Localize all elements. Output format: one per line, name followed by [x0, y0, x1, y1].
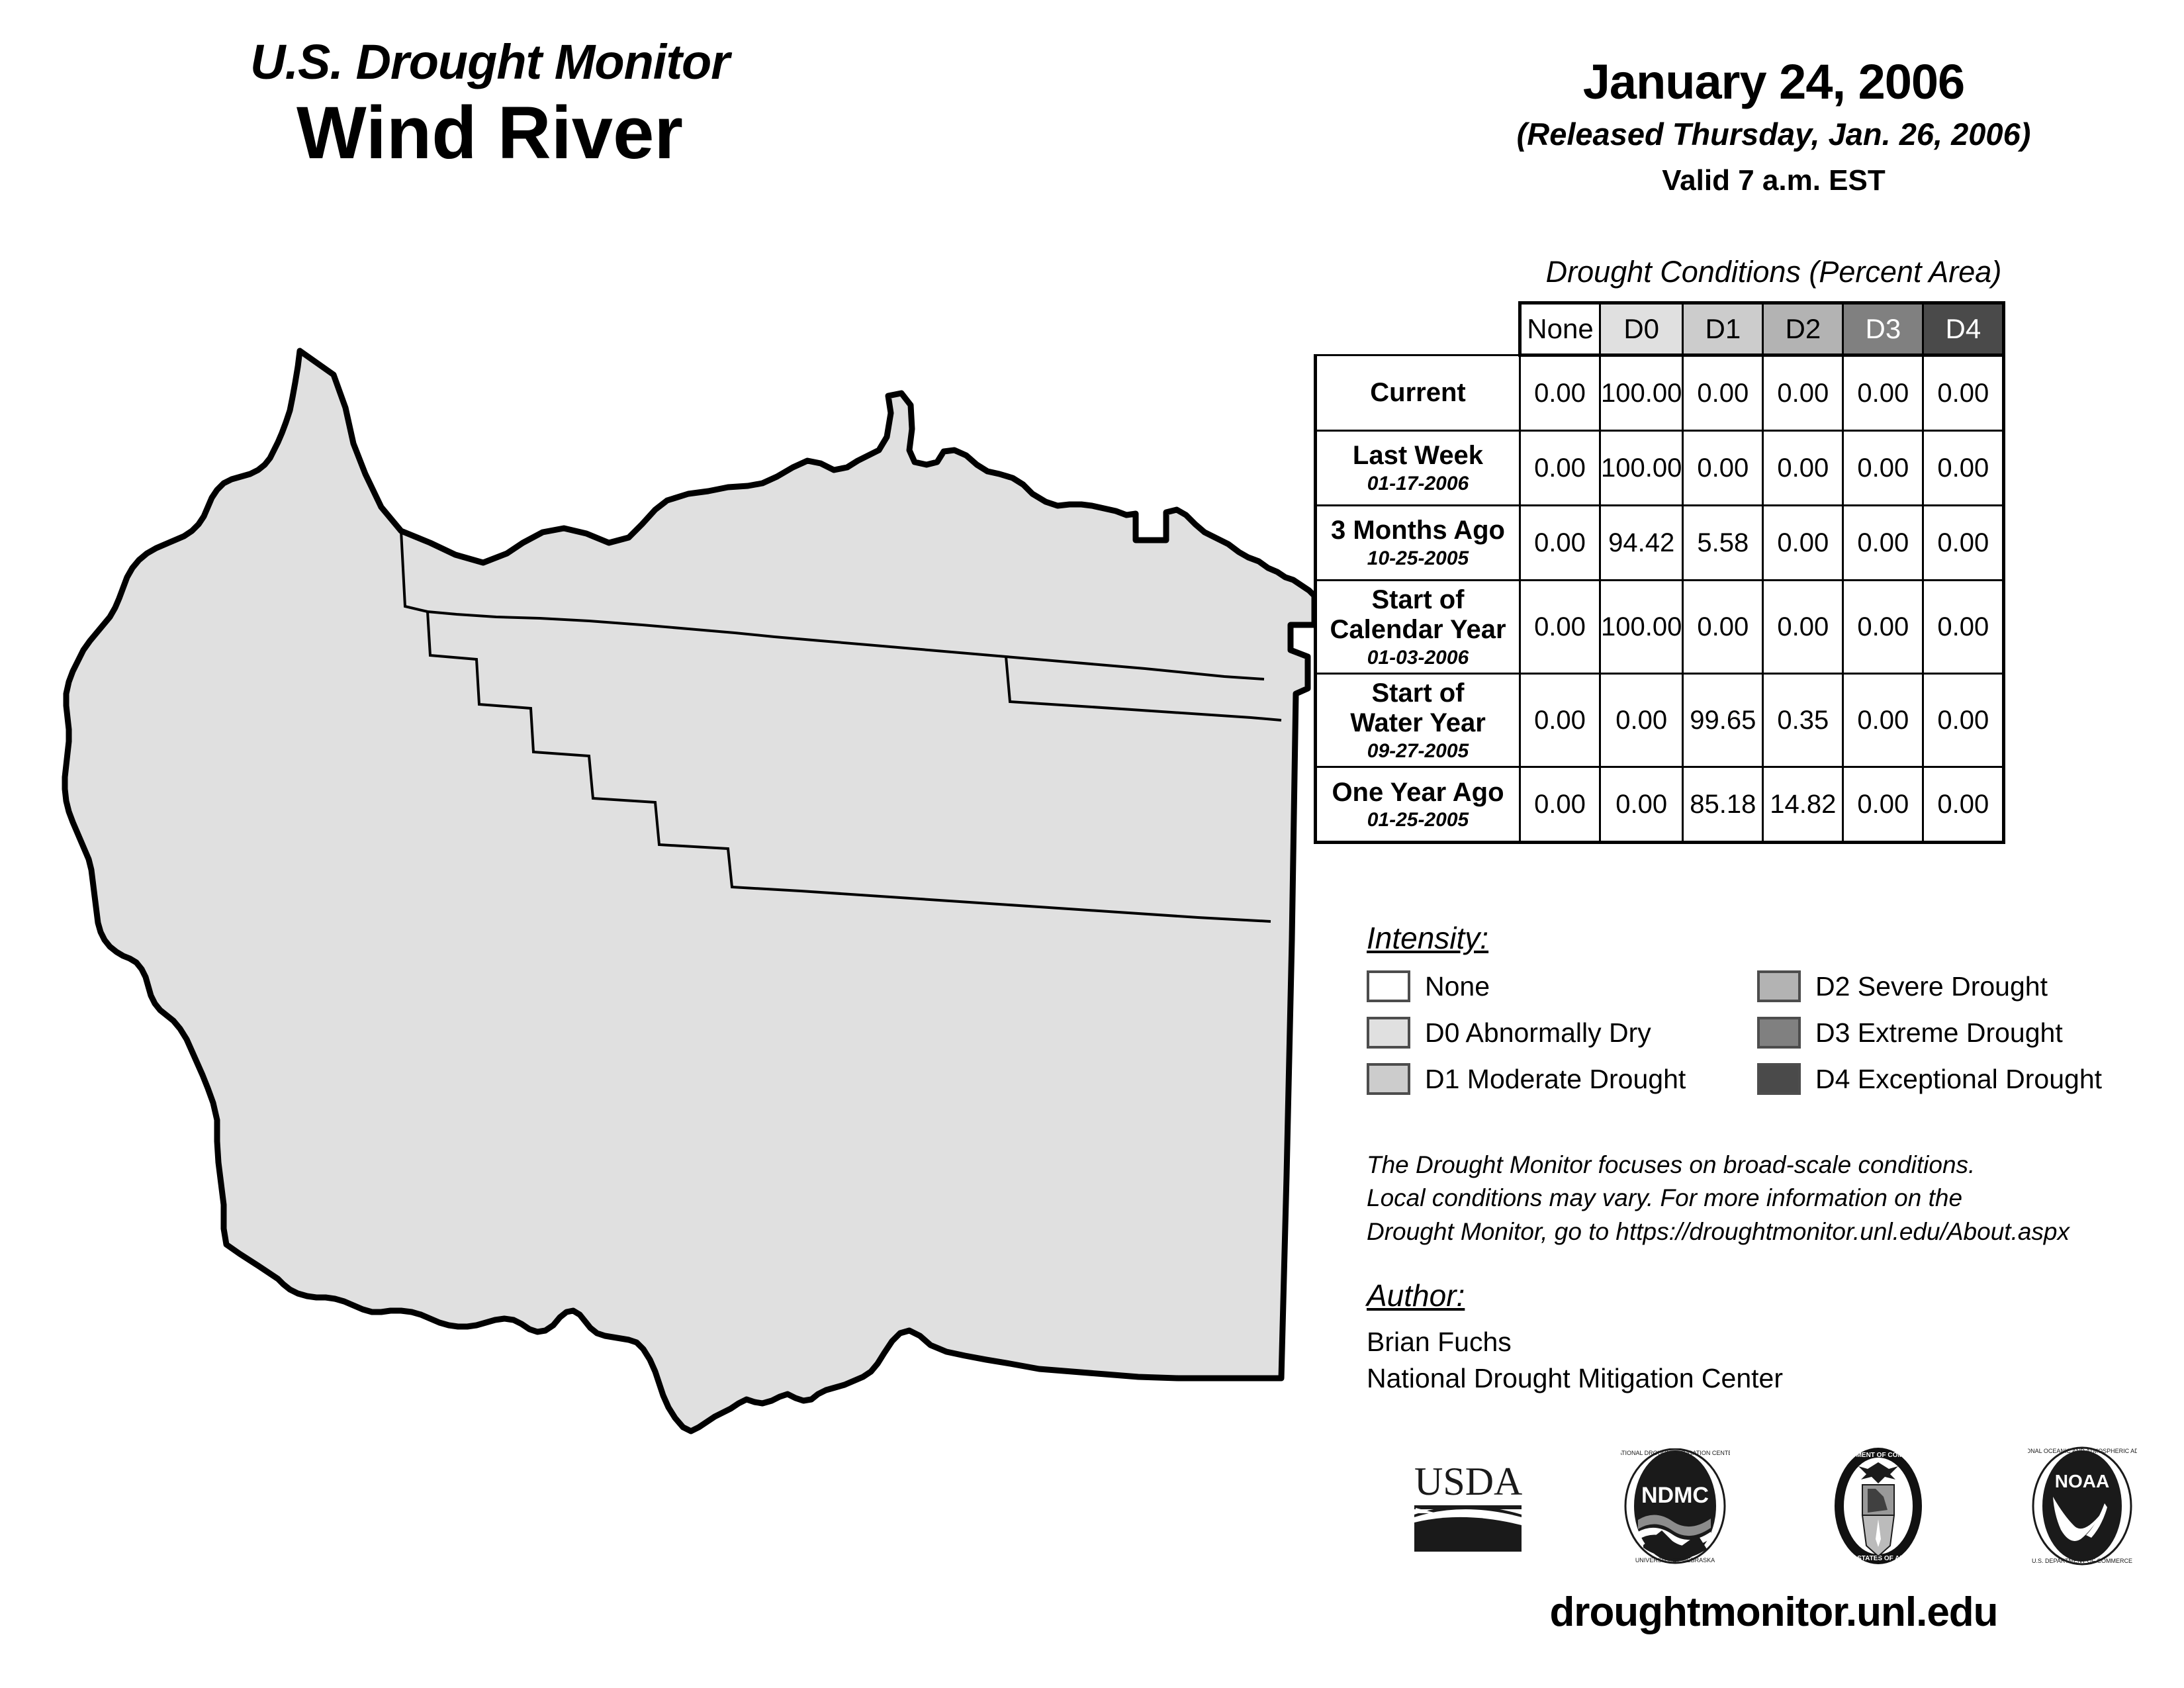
legend-item-none[interactable]: None — [1367, 970, 1757, 1002]
valid-date: January 24, 2006 — [1363, 56, 2184, 108]
map-container[interactable] — [60, 344, 1317, 1542]
svg-text:NATIONAL OCEANIC AND ATMOSPHER: NATIONAL OCEANIC AND ATMOSPHERIC ADMIN. — [2028, 1448, 2137, 1454]
column-header-none: None — [1520, 303, 1600, 355]
legend-item-d4[interactable]: D4 Exceptional Drought — [1757, 1063, 2167, 1095]
row-label-last-week: Last Week 01-17-2006 — [1316, 431, 1520, 506]
noaa-logo: NOAA NATIONAL OCEANIC AND ATMOSPHERIC AD… — [2028, 1446, 2137, 1566]
disclaimer-line-2: Local conditions may vary. For more info… — [1367, 1182, 2181, 1215]
disclaimer-line-1: The Drought Monitor focuses on broad-sca… — [1367, 1149, 2181, 1182]
legend-label-d2: D2 Severe Drought — [1815, 971, 2048, 1002]
cell-current-none: 0.00 — [1520, 355, 1600, 431]
swatch-d4 — [1757, 1063, 1801, 1095]
valid-time: Valid 7 a.m. EST — [1363, 164, 2184, 199]
drought-conditions-table: None D0 D1 D2 D3 D4 Current 0.00 100.00 … — [1314, 301, 2005, 844]
table-row: One Year Ago 01-25-2005 0.00 0.00 85.18 … — [1316, 767, 2004, 843]
row-label-main: Start of Calendar Year — [1324, 585, 1512, 645]
legend-grid: None D2 Severe Drought D0 Abnormally Dry… — [1367, 970, 2184, 1095]
intensity-legend: Intensity: None D2 Severe Drought D0 Abn… — [1367, 920, 2184, 1095]
cell-lastweek-d1: 0.00 — [1683, 431, 1763, 506]
cell-calyear-d4: 0.00 — [1923, 581, 2004, 674]
cell-oneyear-d2: 14.82 — [1763, 767, 1843, 843]
row-label-date: 10-25-2005 — [1324, 547, 1512, 570]
cell-3months-d4: 0.00 — [1923, 506, 2004, 581]
drought-monitor-title: U.S. Drought Monitor — [0, 36, 979, 88]
row-label-current: Current — [1316, 355, 1520, 431]
cell-wateryear-d2: 0.35 — [1763, 674, 1843, 767]
row-label-main: Current — [1324, 378, 1512, 408]
legend-label-d3: D3 Extreme Drought — [1815, 1017, 2063, 1049]
legend-item-d2[interactable]: D2 Severe Drought — [1757, 970, 2167, 1002]
ndmc-logo: NDMC NATIONAL DROUGHT MITIGATION CENTER … — [1621, 1448, 1730, 1564]
cell-3months-none: 0.00 — [1520, 506, 1600, 581]
cell-current-d2: 0.00 — [1763, 355, 1843, 431]
table-row: 3 Months Ago 10-25-2005 0.00 94.42 5.58 … — [1316, 506, 2004, 581]
cell-lastweek-d0: 100.00 — [1600, 431, 1683, 506]
column-header-d1: D1 — [1683, 303, 1763, 355]
cell-wateryear-d3: 0.00 — [1843, 674, 1923, 767]
footer-url[interactable]: droughtmonitor.unl.edu — [1363, 1589, 2184, 1636]
column-header-d0: D0 — [1600, 303, 1683, 355]
right-panel: January 24, 2006 (Released Thursday, Jan… — [1363, 0, 2184, 1688]
column-header-d4: D4 — [1923, 303, 2004, 355]
legend-item-d3[interactable]: D3 Extreme Drought — [1757, 1017, 2167, 1049]
cell-oneyear-d1: 85.18 — [1683, 767, 1763, 843]
wind-river-map[interactable] — [60, 344, 1317, 1542]
intensity-heading: Intensity: — [1367, 920, 2184, 956]
svg-text:UNIVERSITY OF NEBRASKA: UNIVERSITY OF NEBRASKA — [1635, 1557, 1715, 1564]
cell-wateryear-d1: 99.65 — [1683, 674, 1763, 767]
row-label-start-of-calendar-year: Start of Calendar Year 01-03-2006 — [1316, 581, 1520, 674]
swatch-d3 — [1757, 1017, 1801, 1049]
cell-calyear-d3: 0.00 — [1843, 581, 1923, 674]
left-panel: U.S. Drought Monitor Wind River — [0, 0, 1363, 1688]
cell-lastweek-d3: 0.00 — [1843, 431, 1923, 506]
author-heading: Author: — [1367, 1278, 2181, 1313]
svg-text:USDA: USDA — [1414, 1460, 1522, 1503]
swatch-d0 — [1367, 1017, 1410, 1049]
row-label-main: One Year Ago — [1324, 778, 1512, 808]
cell-calyear-d2: 0.00 — [1763, 581, 1843, 674]
cell-oneyear-none: 0.00 — [1520, 767, 1600, 843]
map-region-polygon[interactable] — [65, 351, 1314, 1431]
doc-logo: DEPARTMENT OF COMMERCE UNITED STATES OF … — [1824, 1446, 1933, 1566]
cell-wateryear-none: 0.00 — [1520, 674, 1600, 767]
disclaimer-text: The Drought Monitor focuses on broad-sca… — [1367, 1149, 2181, 1248]
cell-calyear-none: 0.00 — [1520, 581, 1600, 674]
cell-oneyear-d3: 0.00 — [1843, 767, 1923, 843]
legend-item-d0[interactable]: D0 Abnormally Dry — [1367, 1017, 1757, 1049]
row-label-main: Start of Water Year — [1324, 679, 1512, 738]
table-caption: Drought Conditions (Percent Area) — [1363, 255, 2184, 289]
table-row: Last Week 01-17-2006 0.00 100.00 0.00 0.… — [1316, 431, 2004, 506]
cell-oneyear-d4: 0.00 — [1923, 767, 2004, 843]
cell-calyear-d1: 0.00 — [1683, 581, 1763, 674]
svg-text:U.S. DEPARTMENT OF COMMERCE: U.S. DEPARTMENT OF COMMERCE — [2032, 1558, 2132, 1564]
usda-logo: USDA — [1410, 1456, 1526, 1556]
row-label-main: Last Week — [1324, 441, 1512, 471]
column-header-d2: D2 — [1763, 303, 1843, 355]
row-label-date: 09-27-2005 — [1324, 740, 1512, 763]
svg-text:NOAA: NOAA — [2055, 1471, 2109, 1491]
table-corner-cell — [1316, 303, 1520, 355]
cell-lastweek-d2: 0.00 — [1763, 431, 1843, 506]
cell-lastweek-none: 0.00 — [1520, 431, 1600, 506]
region-title: Wind River — [0, 93, 979, 173]
cell-current-d4: 0.00 — [1923, 355, 2004, 431]
table-row: Start of Water Year 09-27-2005 0.00 0.00… — [1316, 674, 2004, 767]
author-affiliation: National Drought Mitigation Center — [1367, 1360, 2181, 1397]
swatch-d1 — [1367, 1063, 1410, 1095]
cell-3months-d3: 0.00 — [1843, 506, 1923, 581]
table-row: Start of Calendar Year 01-03-2006 0.00 1… — [1316, 581, 2004, 674]
cell-wateryear-d0: 0.00 — [1600, 674, 1683, 767]
row-label-date: 01-03-2006 — [1324, 647, 1512, 669]
cell-oneyear-d0: 0.00 — [1600, 767, 1683, 843]
legend-label-d4: D4 Exceptional Drought — [1815, 1064, 2102, 1095]
row-label-start-of-water-year: Start of Water Year 09-27-2005 — [1316, 674, 1520, 767]
svg-text:NATIONAL DROUGHT MITIGATION CE: NATIONAL DROUGHT MITIGATION CENTER — [1621, 1450, 1730, 1456]
row-label-3-months-ago: 3 Months Ago 10-25-2005 — [1316, 506, 1520, 581]
author-block: Author: Brian Fuchs National Drought Mit… — [1367, 1278, 2181, 1397]
legend-label-none: None — [1425, 971, 1490, 1002]
cell-current-d1: 0.00 — [1683, 355, 1763, 431]
row-label-main: 3 Months Ago — [1324, 516, 1512, 545]
cell-3months-d0: 94.42 — [1600, 506, 1683, 581]
cell-current-d0: 100.00 — [1600, 355, 1683, 431]
table-header-row: None D0 D1 D2 D3 D4 — [1316, 303, 2004, 355]
svg-text:NDMC: NDMC — [1641, 1483, 1709, 1508]
cell-3months-d2: 0.00 — [1763, 506, 1843, 581]
title-block: U.S. Drought Monitor Wind River — [0, 36, 979, 173]
column-header-d3: D3 — [1843, 303, 1923, 355]
cell-wateryear-d4: 0.00 — [1923, 674, 2004, 767]
disclaimer-line-3: Drought Monitor, go to https://droughtmo… — [1367, 1215, 2181, 1248]
cell-lastweek-d4: 0.00 — [1923, 431, 2004, 506]
cell-calyear-d0: 100.00 — [1600, 581, 1683, 674]
cell-3months-d1: 5.58 — [1683, 506, 1763, 581]
table-row: Current 0.00 100.00 0.00 0.00 0.00 0.00 — [1316, 355, 2004, 431]
author-name: Brian Fuchs — [1367, 1324, 2181, 1360]
released-date: (Released Thursday, Jan. 26, 2006) — [1363, 116, 2184, 153]
row-label-date: 01-17-2006 — [1324, 473, 1512, 495]
row-label-date: 01-25-2005 — [1324, 809, 1512, 831]
date-block: January 24, 2006 (Released Thursday, Jan… — [1363, 56, 2184, 199]
cell-current-d3: 0.00 — [1843, 355, 1923, 431]
legend-item-d1[interactable]: D1 Moderate Drought — [1367, 1063, 1757, 1095]
legend-label-d1: D1 Moderate Drought — [1425, 1064, 1686, 1095]
logo-row: USDA NDMC NATIONAL DROUGHT MITIGATION CE… — [1363, 1440, 2184, 1572]
legend-label-d0: D0 Abnormally Dry — [1425, 1017, 1651, 1049]
swatch-none — [1367, 970, 1410, 1002]
svg-text:DEPARTMENT OF COMMERCE: DEPARTMENT OF COMMERCE — [1829, 1452, 1927, 1459]
row-label-one-year-ago: One Year Ago 01-25-2005 — [1316, 767, 1520, 843]
swatch-d2 — [1757, 970, 1801, 1002]
